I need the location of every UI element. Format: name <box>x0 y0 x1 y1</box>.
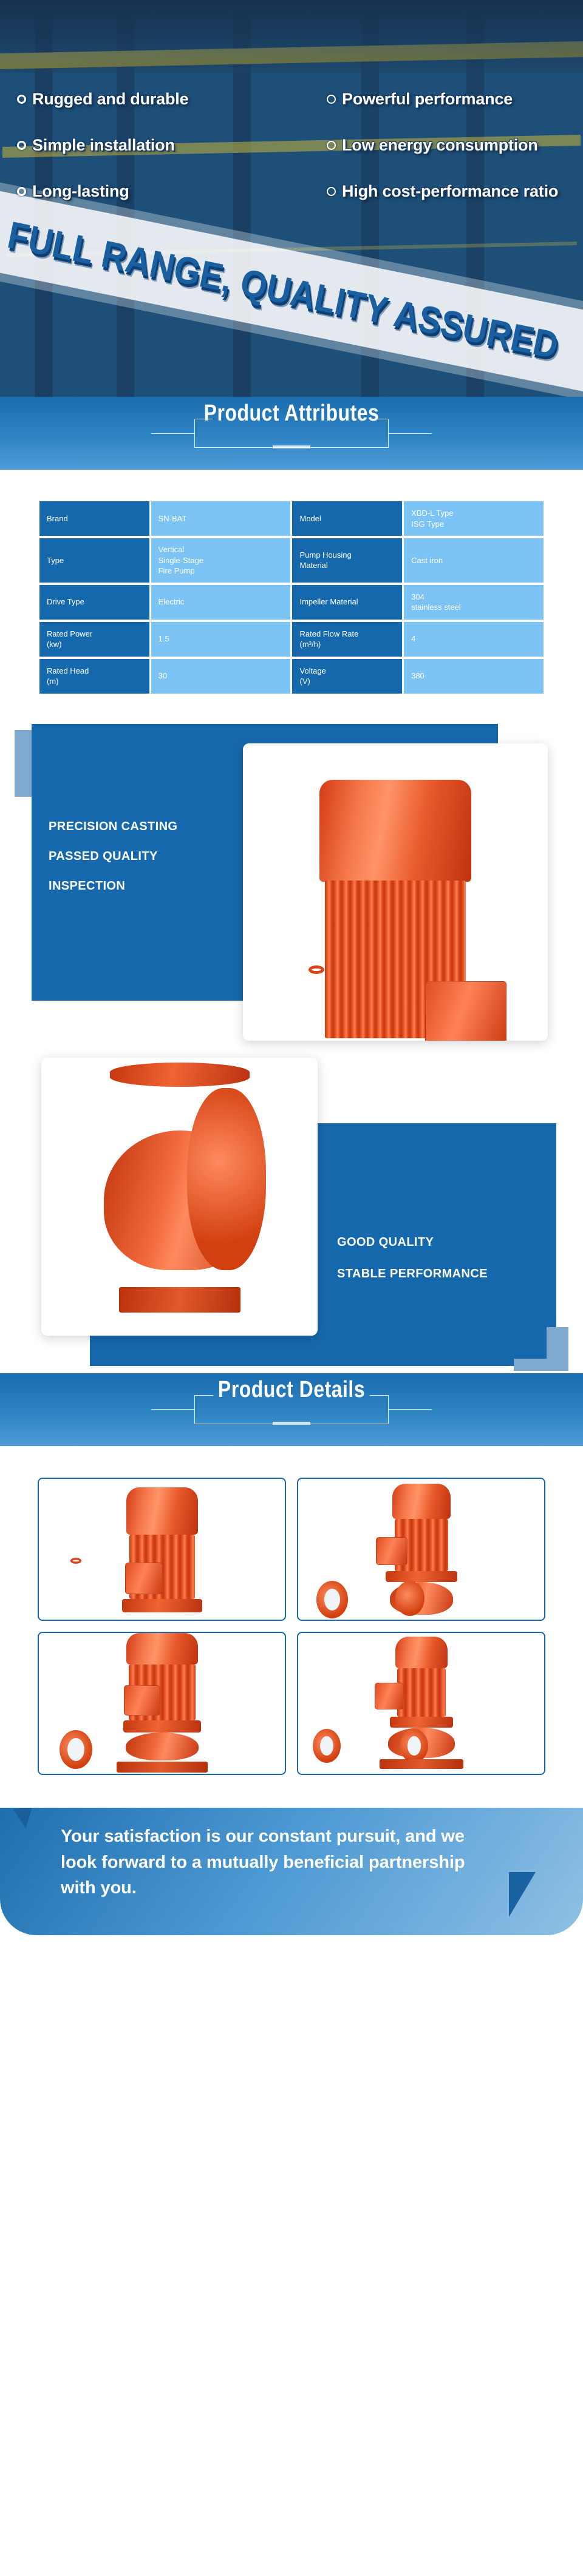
feature-label: Low energy consumption <box>342 136 538 155</box>
feature-column-right: Powerful performance Low energy consumpt… <box>291 90 566 228</box>
feature-item: Simple installation <box>17 136 291 155</box>
attributes-table-wrap: Brand SN-BAT Model XBD-L TypeISG Type Ty… <box>0 470 583 696</box>
feature-label: High cost-performance ratio <box>342 182 558 201</box>
table-row: Type VerticalSingle-StageFire Pump Pump … <box>39 538 544 583</box>
attr-key: Drive Type <box>39 585 149 620</box>
header-tick <box>273 1422 310 1425</box>
attr-key: Pump HousingMaterial <box>292 538 402 583</box>
attr-value: 304stainless steel <box>404 585 544 620</box>
product-details-header: Product Details <box>0 1373 583 1446</box>
attr-value: Electric <box>151 585 291 620</box>
feature-item: High cost-performance ratio <box>327 182 566 201</box>
attr-value: 1.5 <box>151 622 291 657</box>
table-row: Rated Power(kw) 1.5 Rated Flow Rate(m³/h… <box>39 622 544 657</box>
feature-label: Powerful performance <box>342 90 513 109</box>
feature-item: Rugged and durable <box>17 90 291 109</box>
feature-block-good-quality: GOOD QUALITY STABLE PERFORMANCE <box>0 1058 583 1373</box>
hero-banner: Rugged and durable Simple installation L… <box>0 0 583 397</box>
attr-value: 380 <box>404 659 544 694</box>
attr-key: Rated Flow Rate(m³/h) <box>292 622 402 657</box>
table-row: Rated Head(m) 30 Voltage(V) 380 <box>39 659 544 694</box>
feature-panel-text: PRECISION CASTING PASSED QUALITY INSPECT… <box>49 812 177 901</box>
feature-label: Simple installation <box>32 136 175 155</box>
hero-top-shade <box>0 0 583 73</box>
section-title: Product Details <box>218 1376 365 1402</box>
product-details-grid <box>0 1446 583 1775</box>
attr-key: Type <box>39 538 149 583</box>
feature-label: Long-lasting <box>32 182 129 201</box>
attr-key: Rated Power(kw) <box>39 622 149 657</box>
attr-value: Cast iron <box>404 538 544 583</box>
attr-key: Rated Head(m) <box>39 659 149 694</box>
feature-line-2: STABLE PERFORMANCE <box>337 1258 488 1290</box>
detail-card-pump-front-view[interactable] <box>38 1478 286 1621</box>
attr-key: Voltage(V) <box>292 659 402 694</box>
section-title: Product Attributes <box>204 400 380 427</box>
footer-message: Your satisfaction is our constant pursui… <box>61 1824 486 1902</box>
bullet-circle-icon <box>17 141 26 150</box>
feature-item: Long-lasting <box>17 182 291 201</box>
feature-label: Rugged and durable <box>32 90 188 109</box>
detail-card-pump-lower-body-view[interactable] <box>38 1632 286 1775</box>
detail-card-pump-angled-flange-view[interactable] <box>297 1478 545 1621</box>
triangle-accent-bottom-right-icon <box>509 1872 536 1917</box>
attr-key: Model <box>292 501 402 536</box>
header-rule-left <box>151 433 195 434</box>
triangle-accent-top-left-icon <box>13 1808 35 1830</box>
bullet-circle-icon <box>327 95 336 104</box>
bullet-circle-icon <box>17 187 26 196</box>
attributes-table: Brand SN-BAT Model XBD-L TypeISG Type Ty… <box>38 499 545 696</box>
feature-block-precision-casting: PRECISION CASTING PASSED QUALITY INSPECT… <box>0 724 583 1046</box>
feature-line-1: GOOD QUALITY <box>337 1226 488 1258</box>
header-rule-right <box>388 1409 432 1410</box>
feature-panel-text: GOOD QUALITY STABLE PERFORMANCE <box>337 1226 488 1290</box>
feature-item: Powerful performance <box>327 90 566 109</box>
attr-key: Brand <box>39 501 149 536</box>
table-row: Drive Type Electric Impeller Material 30… <box>39 585 544 620</box>
feature-line-2: PASSED QUALITY <box>49 842 177 871</box>
header-rule-right <box>388 433 432 434</box>
footer-message-panel: Your satisfaction is our constant pursui… <box>0 1808 583 1935</box>
bullet-circle-icon <box>327 187 336 196</box>
product-attributes-header: Product Attributes <box>0 397 583 470</box>
feature-line-1: PRECISION CASTING <box>49 812 177 842</box>
attr-value: VerticalSingle-StageFire Pump <box>151 538 291 583</box>
feature-item: Low energy consumption <box>327 136 566 155</box>
accent-bar-horizontal <box>514 1359 568 1371</box>
attr-value: XBD-L TypeISG Type <box>404 501 544 536</box>
pump-illustration <box>41 1058 318 1336</box>
bullet-circle-icon <box>17 95 26 104</box>
header-rule-left <box>151 1409 195 1410</box>
bullet-circle-icon <box>327 141 336 150</box>
detail-card-pump-side-flange-view[interactable] <box>297 1632 545 1775</box>
attr-value: 4 <box>404 622 544 657</box>
pump-illustration <box>243 743 548 1041</box>
header-tick <box>273 445 310 448</box>
feature-line-3: INSPECTION <box>49 871 177 901</box>
attr-value: 30 <box>151 659 291 694</box>
pump-motor-photo <box>243 743 548 1041</box>
feature-column-left: Rugged and durable Simple installation L… <box>17 90 291 228</box>
table-row: Brand SN-BAT Model XBD-L TypeISG Type <box>39 501 544 536</box>
attr-key: Impeller Material <box>292 585 402 620</box>
hero-feature-list: Rugged and durable Simple installation L… <box>0 90 583 228</box>
attr-value: SN-BAT <box>151 501 291 536</box>
header-frame: Product Details <box>194 1395 389 1424</box>
header-frame: Product Attributes <box>194 419 389 448</box>
pump-volute-photo <box>41 1058 318 1336</box>
